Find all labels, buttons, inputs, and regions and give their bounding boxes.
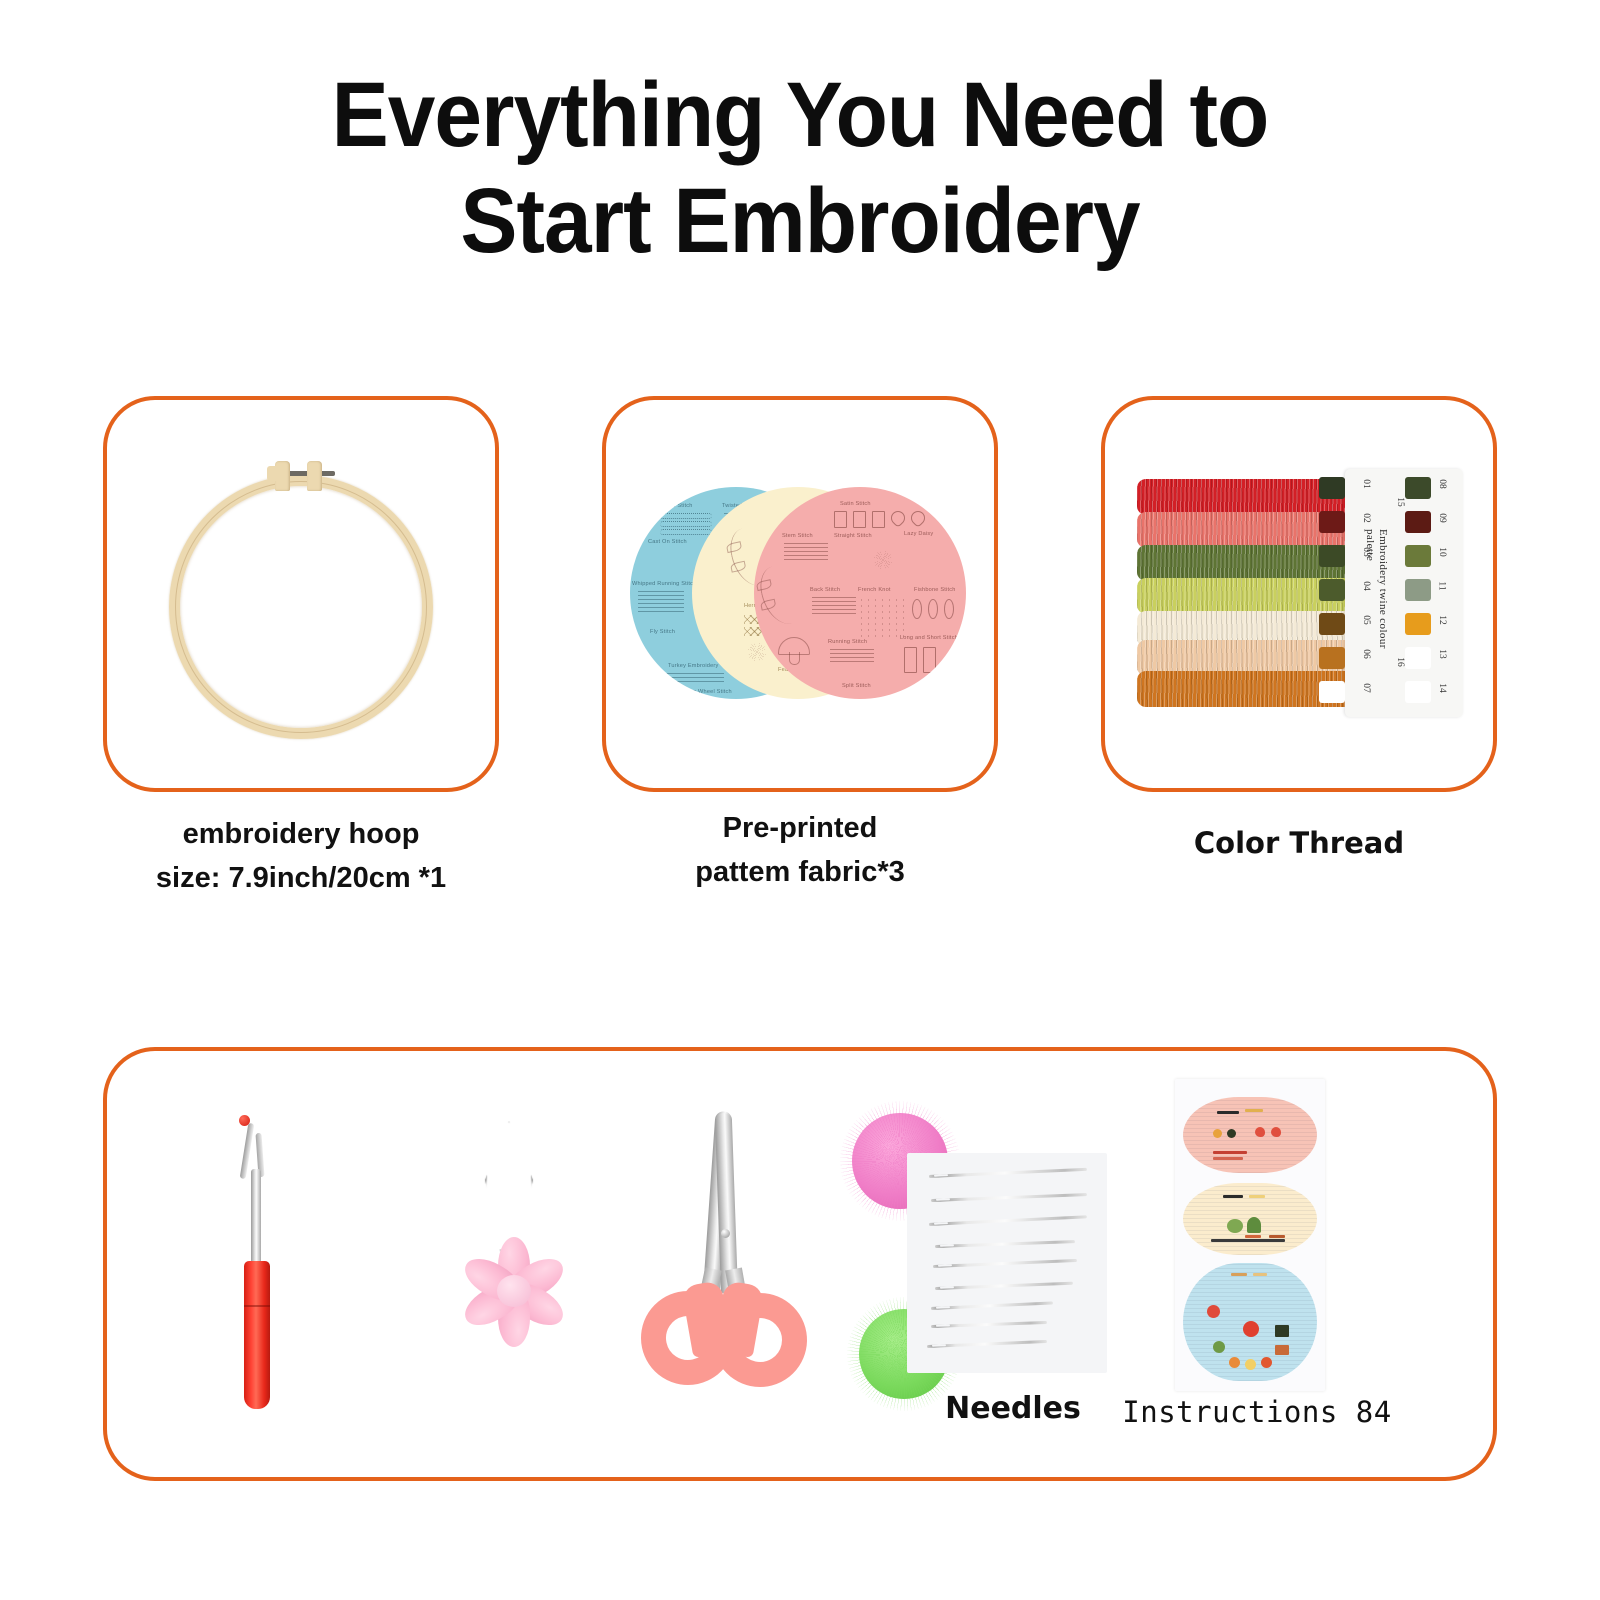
fabric-label-pink-1: Stem Stitch (782, 533, 813, 539)
caption-needles: Needles (913, 1391, 1113, 1426)
instruction-sheet-paper (1175, 1079, 1325, 1391)
stitch-stem-samples (784, 543, 828, 560)
caption-fabric-line-2: pattem fabric*3 (602, 850, 998, 894)
fabric-motif-burst-cream (748, 643, 766, 661)
palette-number-14: 14 (1437, 683, 1447, 693)
instruction-diagram-pink (1183, 1097, 1317, 1173)
palette-swatch-01 (1319, 477, 1345, 499)
seam-ripper (227, 1109, 287, 1409)
palette-number-02: 02 (1361, 513, 1371, 523)
palette-number-16: 16 (1395, 657, 1405, 667)
palette-number-13: 13 (1437, 649, 1447, 659)
instruction-sheet (1175, 1079, 1325, 1391)
instruction-diagram-cream (1183, 1183, 1317, 1255)
needles-set (907, 1153, 1107, 1373)
caption-embroidery-hoop: embroidery hoop size: 7.9inch/20cm *1 (103, 812, 499, 900)
stitch-french-knot-grid (858, 597, 906, 637)
fabric-label-pink-3: Lazy Daisy (904, 531, 933, 537)
fabric-label-pink-2: Straight Stitch (834, 533, 872, 539)
seam-ripper-shaft (251, 1169, 261, 1267)
fabric-label-blue-6: Woven Wheel Stitch (678, 689, 732, 695)
embroidery-hoop-image (161, 451, 441, 741)
caption-instructions: Instructions 84 (1107, 1395, 1407, 1429)
palette-number-11: 11 (1437, 581, 1447, 590)
stitch-chain-sample-1 (660, 513, 712, 519)
stitch-sample-group-blue-2 (638, 591, 684, 612)
fabric-motif-burst-pink (874, 551, 892, 569)
seam-ripper-handle (244, 1261, 270, 1409)
fabric-label-pink-9: Split Stitch (842, 683, 871, 689)
palette-swatch-02 (1319, 511, 1345, 533)
embroidery-scissors (635, 1101, 815, 1421)
page-title: Everything You Need to Start Embroidery (0, 62, 1600, 274)
hoop-screw-head (267, 466, 280, 481)
palette-number-09: 09 (1437, 513, 1447, 523)
palette-swatch-04 (1319, 579, 1345, 601)
palette-number-07: 07 (1361, 683, 1371, 693)
caption-thread-line-1: Color Thread (1101, 822, 1497, 864)
fabric-label-blue-4: Fly Stitch (650, 629, 675, 635)
flower-needle-threader (437, 1109, 587, 1409)
thread-palette-card: Embroidery twine colour palette 01 02 03… (1345, 469, 1463, 717)
hoop-screw-lug-right (307, 461, 322, 491)
stitch-sample-group-blue-3 (664, 673, 724, 682)
fabric-label-pink-8: Long and Short Stitch (900, 635, 958, 641)
palette-number-03: 03 (1361, 547, 1371, 557)
stitch-satin-samples (834, 511, 925, 528)
palette-swatch-14 (1405, 681, 1431, 703)
caption-hoop-line-2: size: 7.9inch/20cm *1 (103, 856, 499, 900)
fabric-label-pink-6: Fishbone Stitch (914, 587, 956, 593)
hoop-tightening-screw (269, 461, 335, 493)
instruction-diagram-blue (1183, 1263, 1317, 1381)
palette-number-12: 12 (1437, 615, 1447, 625)
fabric-motif-sprig-pink (756, 561, 809, 628)
color-thread-image: Embroidery twine colour palette 01 02 03… (1131, 469, 1467, 719)
palette-number-05: 05 (1361, 615, 1371, 625)
fabric-label-pink-5: French Knot (858, 587, 891, 593)
palette-number-01: 01 (1361, 479, 1371, 489)
seam-ripper-ball-tip (239, 1115, 250, 1126)
fabric-label-blue-5: Turkey Embroidery (668, 663, 718, 669)
palette-number-08: 08 (1437, 479, 1447, 489)
caption-pattern-fabric: Pre-printed pattem fabric*3 (602, 806, 998, 894)
palette-swatch-08 (1405, 477, 1431, 499)
palette-number-15: 15 (1395, 497, 1405, 507)
page-title-line-2: Start Embroidery (56, 168, 1544, 274)
fabric-label-pink-0: Satin Stitch (840, 501, 871, 507)
fabric-circle-pink: Satin Stitch Stem Stitch Straight Stitch… (754, 487, 966, 699)
fabric-label-blue-2: Cast On Stitch (648, 539, 687, 545)
stitch-chain-sample-2 (660, 521, 712, 527)
tools-panel[interactable]: Needles Instructions 84 (103, 1047, 1497, 1481)
caption-hoop-line-1: embroidery hoop (103, 812, 499, 856)
stitch-back-samples (812, 597, 856, 614)
palette-swatch-10 (1405, 545, 1431, 567)
caption-color-thread: Color Thread (1101, 822, 1497, 864)
palette-swatch-07 (1319, 681, 1345, 703)
product-card-pattern-fabric[interactable]: Chain Stitch Twisted Chain Stitch Cast O… (602, 396, 998, 792)
stitch-chain-sample-3 (660, 529, 712, 535)
palette-swatch-06 (1319, 647, 1345, 669)
fabric-label-pink-7: Running Stitch (828, 639, 867, 645)
stitch-fishbone-samples (912, 599, 954, 619)
stitch-running-samples (830, 649, 874, 662)
fabric-motif-mushroom-pink (778, 637, 810, 655)
hoop-ring (169, 475, 433, 739)
palette-swatch-13 (1405, 647, 1431, 669)
product-card-color-thread[interactable]: Embroidery twine colour palette 01 02 03… (1101, 396, 1497, 792)
fabric-label-blue-0: Chain Stitch (660, 503, 693, 509)
pattern-fabric-image: Chain Stitch Twisted Chain Stitch Cast O… (630, 479, 970, 709)
palette-number-04: 04 (1361, 581, 1371, 591)
page-title-line-1: Everything You Need to (56, 62, 1544, 168)
fabric-label-blue-3: Whipped Running Stitch (632, 581, 696, 587)
threader-flower-body (453, 1227, 573, 1357)
fabric-label-pink-4: Back Stitch (810, 587, 840, 593)
palette-number-10: 10 (1437, 547, 1447, 557)
palette-swatch-05 (1319, 613, 1345, 635)
scissors-pivot-screw (721, 1229, 730, 1238)
palette-swatch-09 (1405, 511, 1431, 533)
caption-fabric-line-1: Pre-printed (602, 806, 998, 850)
palette-number-06: 06 (1361, 649, 1371, 659)
palette-swatch-03 (1319, 545, 1345, 567)
stitch-long-short-samples (904, 647, 936, 673)
palette-swatch-11 (1405, 579, 1431, 601)
threader-flower-center (497, 1275, 531, 1307)
palette-swatch-12 (1405, 613, 1431, 635)
product-card-embroidery-hoop[interactable] (103, 396, 499, 792)
